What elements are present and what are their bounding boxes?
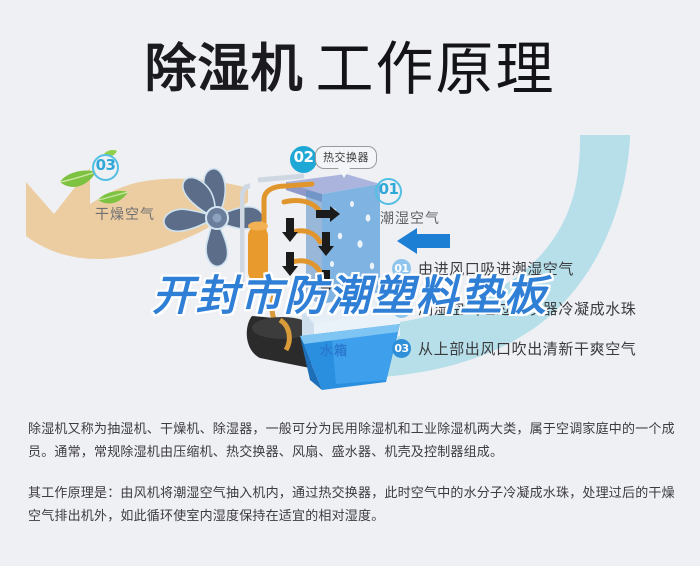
diagram-badge-01: 01 (375, 178, 402, 205)
body-copy: 除湿机又称为抽湿机、干燥机、除湿器，一般可分为民用除湿机和工业除湿机两大类，属于… (28, 418, 676, 528)
list-item: 03 从上部出风口吹出清新干爽空气 (392, 335, 692, 361)
label-dry-air: 干燥空气 (95, 204, 155, 224)
paragraph-2: 其工作原理是：由风机将潮湿空气抽入机内，通过热交换器，此时空气中的水分子冷凝成水… (28, 482, 676, 528)
title-part-principle: 工作原理 (316, 35, 556, 103)
diagram-badge-02: 02 (290, 146, 317, 173)
callout-tail (338, 168, 350, 178)
step-badge-03: 03 (392, 339, 411, 358)
heat-exchanger-callout: 热交换器 (315, 146, 377, 169)
inlet-arrow-icon (395, 228, 450, 254)
heat-exchanger-callout-label: 热交换器 (323, 151, 369, 164)
step-text-03: 从上部出风口吹出清新干爽空气 (418, 338, 636, 359)
diagram-badge-03: 03 (92, 154, 119, 181)
infographic-page: 除湿机工作原理 (0, 0, 700, 566)
watermark-text: 开封市防潮塑料垫板 (0, 262, 700, 323)
label-humid-air: 潮湿空气 (380, 208, 440, 228)
paragraph-1: 除湿机又称为抽湿机、干燥机、除湿器，一般可分为民用除湿机和工业除湿机两大类，属于… (28, 418, 676, 464)
label-water-tank: 水箱 (320, 340, 348, 359)
page-title: 除湿机工作原理 (0, 22, 700, 106)
title-part-dehumidifier: 除湿机 (144, 40, 303, 100)
